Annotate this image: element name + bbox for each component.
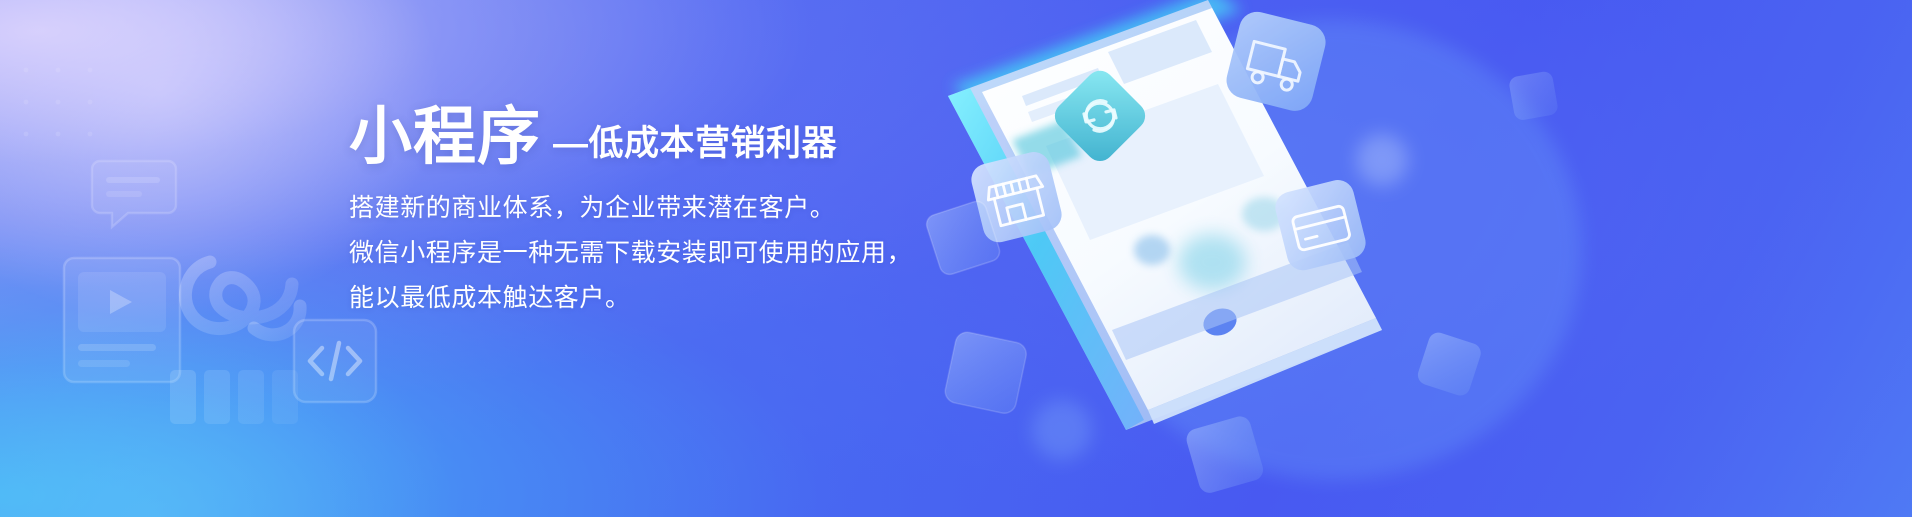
phone-scene [912, 0, 1912, 517]
dot-grid-decor [18, 62, 168, 182]
glow-blob-bottomleft [0, 300, 460, 517]
video-card-icon [62, 256, 182, 384]
promo-banner: 小程序 —低成本营销利器 搭建新的商业体系，为企业带来潜在客户。 微信小程序是一… [0, 0, 1912, 517]
chat-bubble-icon [88, 155, 180, 233]
banner-heading: 小程序 —低成本营销利器 [349, 104, 989, 170]
mini-program-logo-icon [150, 210, 340, 400]
banner-copy: 小程序 —低成本营销利器 搭建新的商业体系，为企业带来潜在客户。 微信小程序是一… [349, 104, 989, 321]
screen-blur-block [1134, 235, 1170, 265]
right-illustration [912, 0, 1912, 517]
page-title: 小程序 [349, 104, 541, 170]
screen-blur-block [1178, 234, 1246, 290]
light-orb [1356, 134, 1408, 186]
code-brackets-icon [292, 318, 378, 404]
list-bars-icon [168, 360, 302, 436]
banner-description: 搭建新的商业体系，为企业带来潜在客户。 微信小程序是一种无需下载安装即可使用的应… [349, 186, 989, 321]
description-line: 搭建新的商业体系，为企业带来潜在客户。 [349, 186, 989, 231]
description-line: 能以最低成本触达客户。 [349, 276, 989, 321]
description-line: 微信小程序是一种无需下载安装即可使用的应用， [349, 231, 989, 276]
light-orb [1032, 400, 1092, 460]
page-subtitle: —低成本营销利器 [553, 115, 837, 166]
